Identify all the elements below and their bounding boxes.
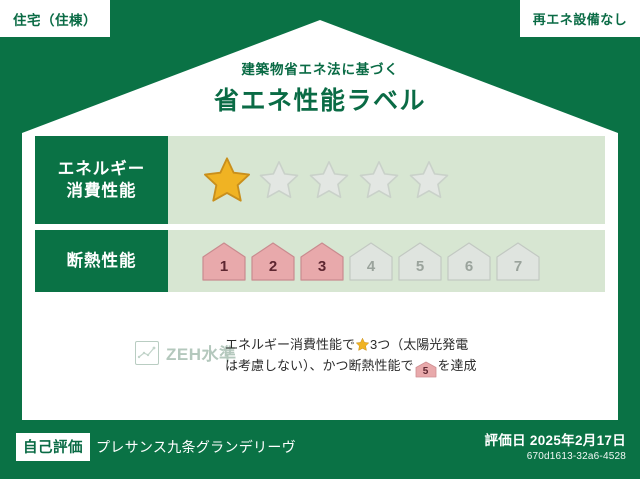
star-icon-filled — [201, 155, 253, 205]
zeh-description-line1: エネルギー消費性能で3つ（太陽光発電 — [225, 334, 605, 355]
energy-star-rating — [168, 136, 605, 224]
zeh-mark: ZEH水準 — [35, 332, 215, 365]
energy-label-card: 住宅（住棟） 再エネ設備なし 建築物省エネ法に基づく 省エネ性能ラベル エネルギ… — [0, 0, 640, 479]
building-type-tag: 住宅（住棟） — [0, 0, 110, 37]
inline-star-icon — [355, 337, 370, 352]
zeh-section: ZEH水準 エネルギー消費性能で3つ（太陽光発電 は考慮しない）、かつ断熱性能で… — [35, 332, 605, 378]
energy-performance-label-line2: 消費性能 — [67, 180, 137, 202]
insulation-grade-scale: 1234567 — [168, 230, 605, 292]
self-evaluation-badge: 自己評価 — [16, 433, 90, 461]
star-icon-empty — [407, 159, 451, 201]
energy-performance-label: エネルギー 消費性能 — [35, 136, 168, 224]
renewable-energy-tag: 再エネ設備なし — [520, 0, 640, 37]
star-icon-empty — [257, 159, 301, 201]
zeh-description: エネルギー消費性能で3つ（太陽光発電 は考慮しない）、かつ断熱性能で5を達成 — [215, 332, 605, 378]
inline-grade-value: 5 — [415, 361, 437, 382]
star-icon-empty — [357, 159, 401, 201]
insulation-grade-7: 7 — [495, 241, 541, 282]
insulation-performance-label: 断熱性能 — [35, 230, 168, 292]
insulation-grade-value: 3 — [318, 258, 326, 282]
insulation-grade-value: 6 — [465, 258, 473, 282]
energy-performance-label-line1: エネルギー — [58, 158, 146, 180]
evaluation-date: 評価日 2025年2月17日 — [484, 429, 626, 449]
zeh-desc-text-d: を達成 — [438, 358, 477, 373]
zeh-description-line2: は考慮しない）、かつ断熱性能で5を達成 — [225, 355, 605, 378]
insulation-performance-label-line1: 断熱性能 — [67, 250, 137, 272]
insulation-grade-value: 1 — [220, 258, 228, 282]
inline-grade-badge: 5 — [415, 361, 437, 378]
renewable-energy-tag-label: 再エネ設備なし — [533, 9, 628, 28]
insulation-grade-value: 7 — [514, 258, 522, 282]
building-type-tag-label: 住宅（住棟） — [13, 9, 97, 29]
label-id: 670d1613-32a6-4528 — [484, 451, 626, 462]
label-title: 省エネ性能ラベル — [0, 81, 640, 117]
footer-right-group: 評価日 2025年2月17日 670d1613-32a6-4528 — [484, 429, 626, 462]
insulation-grade-value: 5 — [416, 258, 424, 282]
building-name: プレサンス九条グランデリーヴ — [96, 437, 296, 457]
insulation-grade-list: 1234567 — [201, 241, 541, 282]
energy-performance-row: エネルギー 消費性能 — [35, 136, 605, 224]
insulation-grade-3: 3 — [299, 241, 345, 282]
insulation-grade-1: 1 — [201, 241, 247, 282]
insulation-performance-row: 断熱性能 1234567 — [35, 230, 605, 292]
insulation-grade-value: 2 — [269, 258, 277, 282]
insulation-grade-value: 4 — [367, 258, 375, 282]
insulation-grade-2: 2 — [250, 241, 296, 282]
zeh-desc-text-c: は考慮しない）、かつ断熱性能で — [225, 358, 414, 373]
zeh-desc-text-b: 3つ（太陽光発電 — [370, 337, 468, 352]
insulation-grade-4: 4 — [348, 241, 394, 282]
label-footer: 自己評価 プレサンス九条グランデリーヴ 評価日 2025年2月17日 670d1… — [0, 424, 640, 479]
zeh-chart-icon — [135, 341, 159, 365]
performance-table: エネルギー 消費性能 断熱性能 1234567 — [35, 136, 605, 292]
star-icon-empty — [307, 159, 351, 201]
insulation-grade-6: 6 — [446, 241, 492, 282]
insulation-grade-5: 5 — [397, 241, 443, 282]
footer-left-group: 自己評価 プレサンス九条グランデリーヴ — [16, 433, 296, 461]
label-subtitle: 建築物省エネ法に基づく — [0, 58, 640, 78]
zeh-desc-text-a: エネルギー消費性能で — [225, 337, 355, 352]
